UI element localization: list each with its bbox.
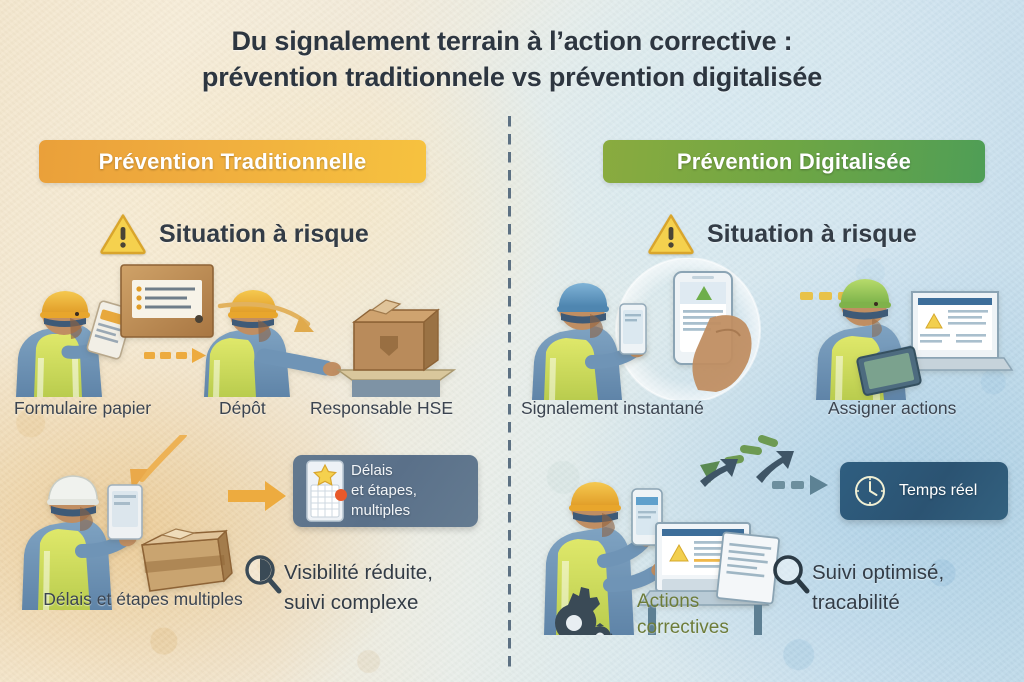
tablet-device-icon [108, 485, 142, 539]
card-temps-reel-label: Temps réel [899, 482, 977, 500]
illustration-digital-top-row [520, 258, 1018, 400]
caption-delais-etapes-multiples: Délais et étapes multiples [43, 589, 243, 611]
title-line-1: Du signalement terrain à l’action correc… [0, 24, 1024, 60]
arrow-curved-down [130, 435, 184, 491]
banner-digital-prevention: Prévention Digitalisée [603, 140, 985, 183]
banner-traditional-prevention: Prévention Traditionnelle [39, 140, 426, 183]
outcome-left-line-2: suivi complexe [284, 588, 433, 618]
calendar-document-icon [301, 459, 349, 523]
illustration-traditional-top-row [8, 262, 490, 397]
arrow-dashed-right-1 [144, 348, 206, 363]
title-line-2: prévention traditionnele vs prévention d… [0, 60, 1024, 96]
open-cardboard-box [142, 529, 232, 591]
card-delais-text: Délais et étapes, multiples [351, 461, 417, 520]
outcome-right-line-1: Suivi optimisé, [812, 558, 944, 588]
page-title: Du signalement terrain à l’action correc… [0, 24, 1024, 96]
arrow-right-solid [228, 481, 286, 511]
card-delais-line-3: multiples [351, 501, 417, 521]
banner-digital-label: Prévention Digitalisée [677, 149, 911, 175]
outcome-text-left: Visibilité réduite, suivi complexe [284, 558, 433, 617]
arrow-dashed-right-3 [772, 475, 828, 495]
outcome-text-right: Suivi optimisé, tracabilité [812, 558, 944, 617]
caption-signalement-instantane: Signalement instantané [521, 398, 704, 420]
warning-triangle-icon [648, 213, 694, 255]
clock-icon [853, 474, 887, 508]
magnifier-icon [770, 553, 810, 595]
caption-actions-correctives: Actions correctives [637, 589, 729, 640]
caption-assigner-actions: Assigner actions [828, 398, 956, 420]
outcome-right-line-2: tracabilité [812, 588, 944, 618]
magnifier-icon [242, 553, 282, 595]
risk-heading-right-label: Situation à risque [707, 220, 917, 249]
risk-heading-left-label: Situation à risque [159, 220, 369, 249]
smartphone-small-icon [620, 304, 646, 354]
outcome-left-line-1: Visibilité réduite, [284, 558, 433, 588]
infographic-canvas: Du signalement terrain à l’action correc… [0, 0, 1024, 682]
caption-responsable-hse: Responsable HSE [310, 398, 453, 420]
caption-actions-line-2: correctives [637, 615, 729, 641]
caption-formulaire-papier: Formulaire papier [14, 398, 151, 420]
column-divider [508, 116, 511, 672]
banner-traditional-label: Prévention Traditionnelle [99, 149, 367, 175]
archive-box-on-table [338, 300, 454, 397]
card-delais-line-2: et étapes, [351, 481, 417, 501]
card-delais-line-1: Délais [351, 461, 417, 481]
risk-heading-right: Situation à risque [648, 213, 917, 255]
risk-heading-left: Situation à risque [100, 213, 369, 255]
document-panel-icon [121, 265, 213, 337]
arrow-up-small-2 [756, 451, 794, 483]
caption-depot: Dépôt [219, 398, 266, 420]
caption-actions-line-1: Actions [637, 589, 729, 615]
card-temps-reel: Temps réel [840, 462, 1008, 520]
warning-triangle-icon [100, 213, 146, 255]
card-delais-multiples: Délais et étapes, multiples [293, 455, 478, 527]
